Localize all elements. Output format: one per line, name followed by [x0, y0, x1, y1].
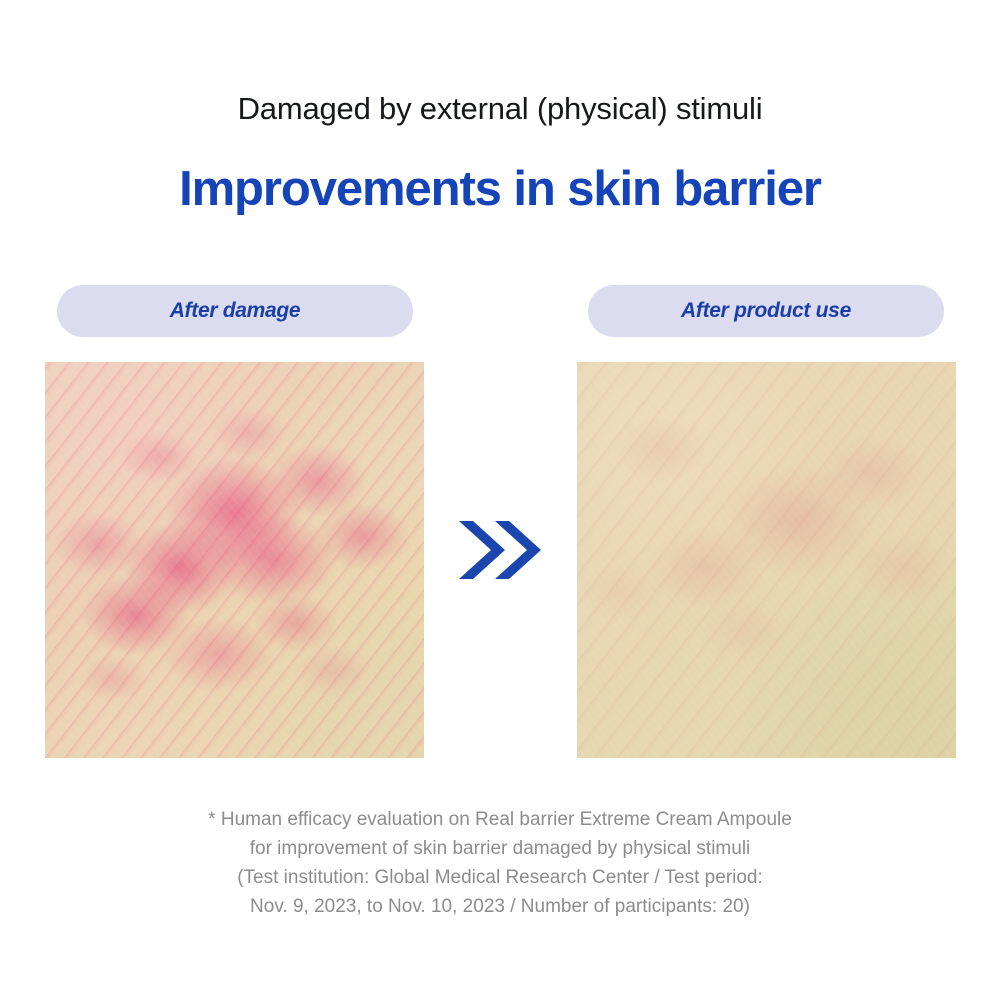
footnote-line: Nov. 9, 2023, to Nov. 10, 2023 / Number …: [0, 893, 1000, 922]
before-label-pill: After damage: [57, 285, 413, 337]
page-subtitle: Damaged by external (physical) stimuli: [0, 90, 1000, 127]
footnote-line: * Human efficacy evaluation on Real barr…: [0, 806, 1000, 835]
double-chevron-right-icon: [455, 517, 541, 583]
before-label-text: After damage: [170, 299, 301, 323]
before-skin-grain: [45, 362, 424, 758]
after-skin-grain: [577, 362, 956, 758]
after-label-text: After product use: [681, 299, 851, 323]
promo-page: Damaged by external (physical) stimuli I…: [0, 0, 1000, 1000]
before-skin-photo: [45, 362, 424, 758]
footnote-line: for improvement of skin barrier damaged …: [0, 835, 1000, 864]
study-footnote: * Human efficacy evaluation on Real barr…: [0, 806, 1000, 922]
page-title: Improvements in skin barrier: [0, 160, 1000, 219]
after-label-pill: After product use: [588, 285, 944, 337]
footnote-line: (Test institution: Global Medical Resear…: [0, 864, 1000, 893]
after-skin-photo: [577, 362, 956, 758]
